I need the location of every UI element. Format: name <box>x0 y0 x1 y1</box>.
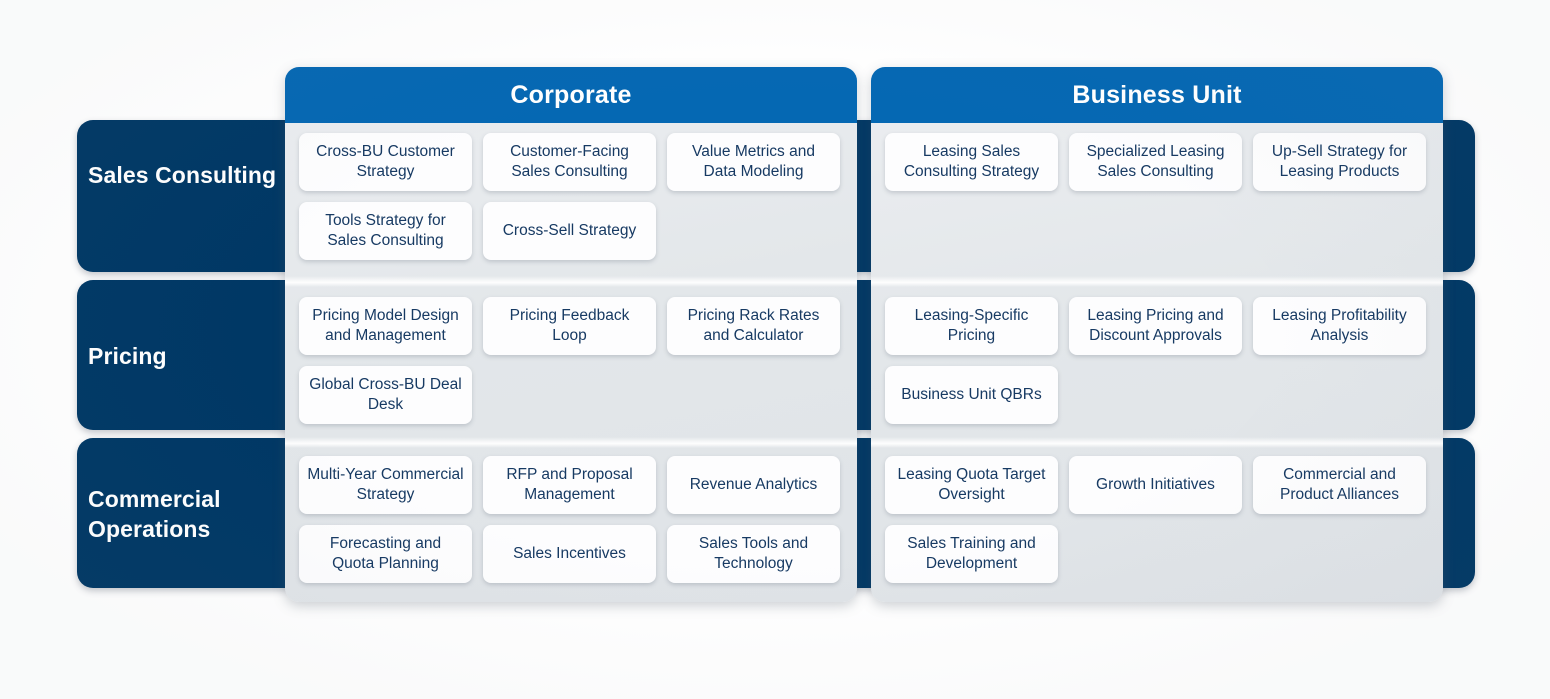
cell-business-unit-pricing: Leasing-Specific PricingLeasing Pricing … <box>871 287 1443 437</box>
capability-chip[interactable]: Pricing Rack Rates and Calculator <box>667 297 840 355</box>
capability-chip[interactable]: RFP and Proposal Management <box>483 456 656 514</box>
row-label-pricing: Pricing <box>88 341 278 371</box>
capability-chip[interactable]: Global Cross-BU Deal Desk <box>299 366 472 424</box>
capability-chip[interactable]: Leasing Pricing and Discount Approvals <box>1069 297 1242 355</box>
cell-business-unit-sales-consulting: Leasing Sales Consulting StrategySpecial… <box>871 123 1443 276</box>
capability-chip[interactable]: Pricing Feedback Loop <box>483 297 656 355</box>
capability-chip[interactable]: Pricing Model Design and Management <box>299 297 472 355</box>
capability-chip[interactable]: Leasing Quota Target Oversight <box>885 456 1058 514</box>
capability-chip[interactable]: Leasing-Specific Pricing <box>885 297 1058 355</box>
row-label-commercial-operations: Commercial Operations <box>88 484 278 545</box>
capability-chip[interactable]: Customer-Facing Sales Consulting <box>483 133 656 191</box>
column-panel-corporate: Corporate Cross-BU Customer StrategyCust… <box>285 67 857 602</box>
capability-chip[interactable]: Tools Strategy for Sales Consulting <box>299 202 472 260</box>
capability-chip[interactable]: Sales Training and Development <box>885 525 1058 583</box>
capability-matrix: Sales Consulting Pricing Commercial Oper… <box>0 0 1550 699</box>
capability-chip[interactable]: Leasing Profitability Analysis <box>1253 297 1426 355</box>
capability-chip[interactable]: Commercial and Product Alliances <box>1253 456 1426 514</box>
column-panel-business-unit: Business Unit Leasing Sales Consulting S… <box>871 67 1443 602</box>
cell-business-unit-commercial-operations: Leasing Quota Target OversightGrowth Ini… <box>871 446 1443 602</box>
capability-chip[interactable]: Sales Incentives <box>483 525 656 583</box>
cell-corporate-commercial-operations: Multi-Year Commercial StrategyRFP and Pr… <box>285 446 857 602</box>
column-body-business-unit: Leasing Sales Consulting StrategySpecial… <box>871 123 1443 602</box>
capability-chip[interactable]: Sales Tools and Technology <box>667 525 840 583</box>
cell-separator <box>285 276 857 287</box>
cell-corporate-sales-consulting: Cross-BU Customer StrategyCustomer-Facin… <box>285 123 857 276</box>
capability-chip[interactable]: Leasing Sales Consulting Strategy <box>885 133 1058 191</box>
column-header-business-unit: Business Unit <box>871 67 1443 123</box>
capability-chip[interactable]: Forecasting and Quota Planning <box>299 525 472 583</box>
capability-chip[interactable]: Multi-Year Commercial Strategy <box>299 456 472 514</box>
cell-corporate-pricing: Pricing Model Design and ManagementPrici… <box>285 287 857 437</box>
capability-chip[interactable]: Cross-BU Customer Strategy <box>299 133 472 191</box>
cell-separator <box>871 276 1443 287</box>
capability-chip[interactable]: Up-Sell Strategy for Leasing Products <box>1253 133 1426 191</box>
capability-chip[interactable]: Cross-Sell Strategy <box>483 202 656 260</box>
capability-chip[interactable]: Value Metrics and Data Modeling <box>667 133 840 191</box>
capability-chip[interactable]: Specialized Leasing Sales Consulting <box>1069 133 1242 191</box>
column-header-corporate: Corporate <box>285 67 857 123</box>
column-body-corporate: Cross-BU Customer StrategyCustomer-Facin… <box>285 123 857 602</box>
capability-chip[interactable]: Growth Initiatives <box>1069 456 1242 514</box>
capability-chip[interactable]: Revenue Analytics <box>667 456 840 514</box>
row-label-sales-consulting: Sales Consulting <box>88 160 278 190</box>
capability-chip[interactable]: Business Unit QBRs <box>885 366 1058 424</box>
